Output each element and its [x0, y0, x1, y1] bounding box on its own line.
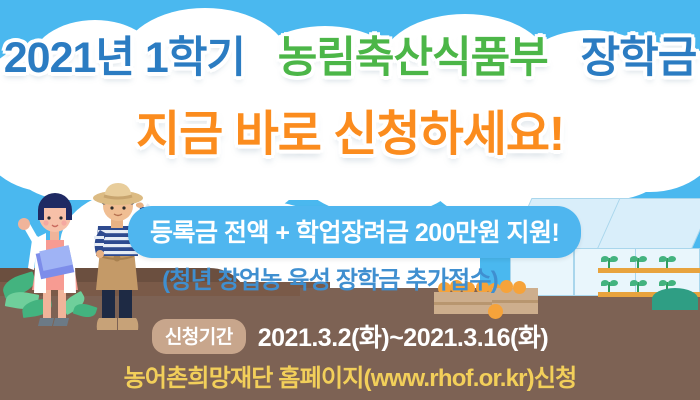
website-line: 농어촌희망재단 홈페이지(www.rhof.or.kr)신청	[0, 358, 700, 393]
benefit-pill: 등록금 전액 + 학업장려금 200만원 지원!	[128, 206, 581, 258]
scholarship-banner: 2021년 1학기 농림축산식품부 장학금 지금 바로 신청하세요! 등록금 전…	[0, 0, 700, 400]
period-value: 2021.3.2(화)~2021.3.16(화)	[258, 318, 548, 354]
headline-ministry: 농림축산식품부	[278, 34, 548, 82]
headline-cta: 지금 바로 신청하세요!	[136, 108, 564, 161]
headline-scholarship: 장학금	[581, 34, 697, 82]
benefit-subtext: (청년 창업농 육성 장학금 추가접수)	[0, 260, 700, 295]
period-badge: 신청기간	[152, 319, 246, 354]
headline-line-1: 2021년 1학기 농림축산식품부 장학금	[0, 30, 700, 86]
application-period-row: 신청기간 2021.3.2(화)~2021.3.16(화)	[0, 318, 700, 354]
headline-line-2: 지금 바로 신청하세요!	[0, 104, 700, 166]
headline-semester: 2021년 1학기	[4, 34, 245, 82]
